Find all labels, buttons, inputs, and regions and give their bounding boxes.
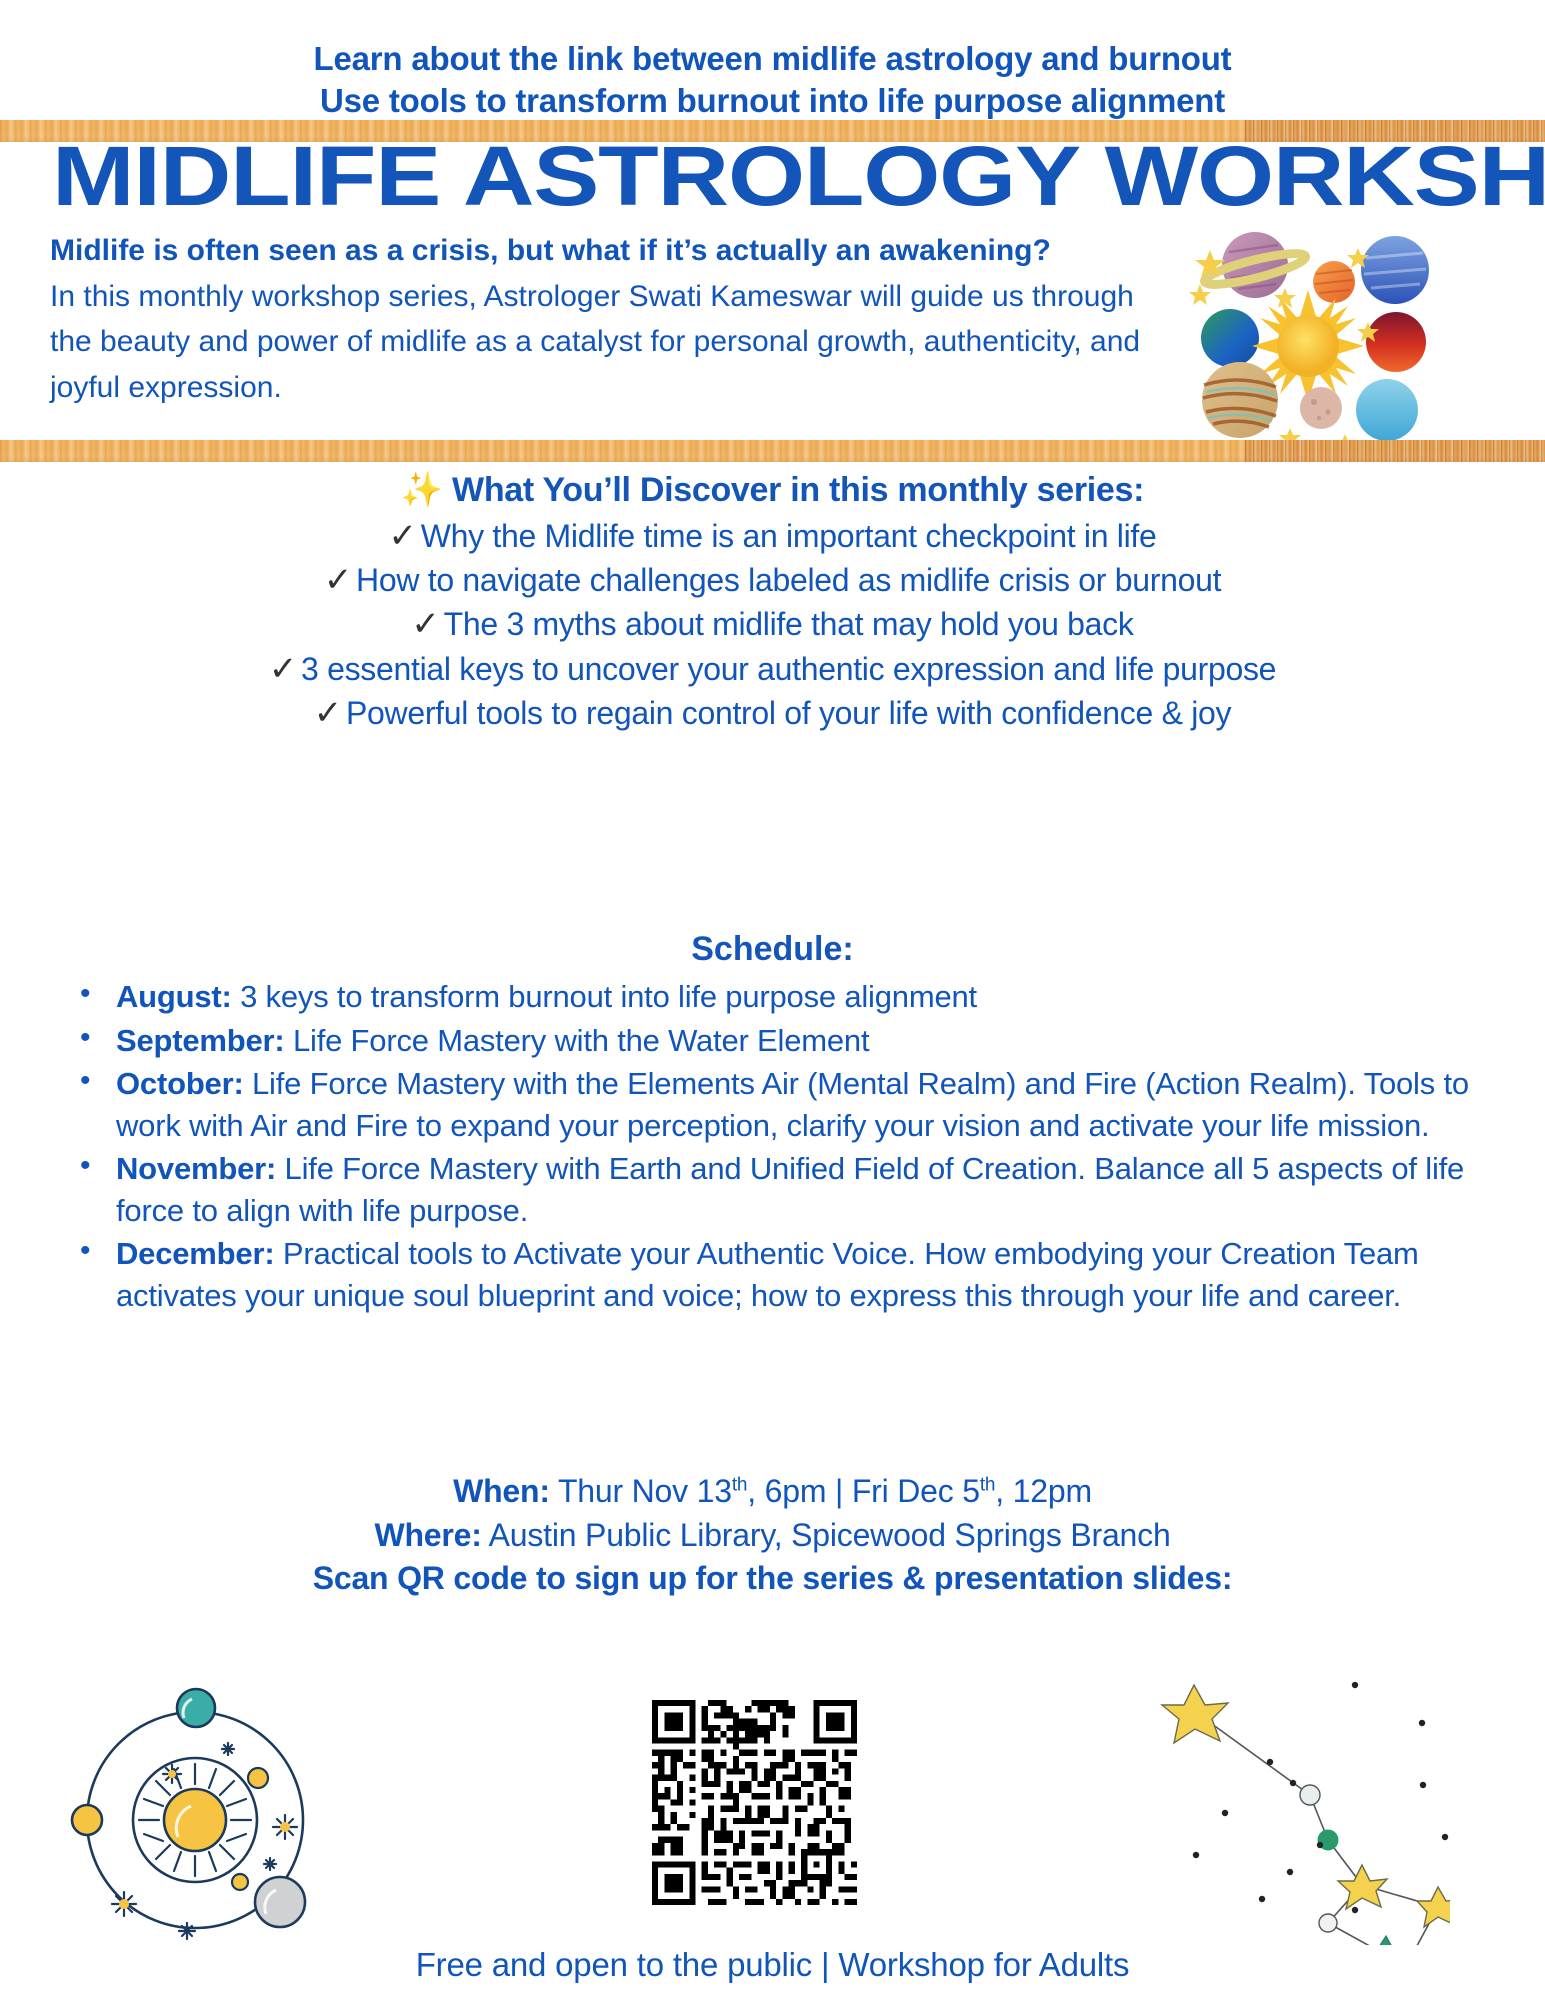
when-value-b: , 6pm | Fri Dec 5	[747, 1473, 980, 1509]
when-row: When: Thur Nov 13th, 6pm | Fri Dec 5th, …	[0, 1470, 1545, 1514]
when-value-a: Thur Nov 13	[550, 1473, 732, 1509]
schedule-text: 3 keys to transform burnout into life pu…	[232, 979, 977, 1014]
when-label: When:	[453, 1473, 550, 1509]
discover-title: What You’ll Discover in this monthly ser…	[452, 471, 1144, 509]
schedule-month: October:	[116, 1066, 244, 1101]
event-details: When: Thur Nov 13th, 6pm | Fri Dec 5th, …	[0, 1470, 1545, 1601]
where-label: Where:	[374, 1517, 481, 1553]
schedule-text: Life Force Mastery with Earth and Unifie…	[116, 1151, 1464, 1228]
schedule-month: August:	[116, 979, 232, 1014]
tagline-line-1: Learn about the link between midlife ast…	[0, 38, 1545, 80]
schedule-month: November:	[116, 1151, 276, 1186]
schedule-item: November: Life Force Mastery with Earth …	[68, 1148, 1488, 1231]
schedule-item: September: Life Force Mastery with the W…	[68, 1020, 1488, 1062]
schedule-text: Life Force Mastery with the Elements Air…	[116, 1066, 1469, 1143]
discover-item-label: The 3 myths about midlife that may hold …	[444, 606, 1134, 642]
discover-item-label: Powerful tools to regain control of your…	[346, 695, 1231, 731]
flyer-page: Learn about the link between midlife ast…	[0, 0, 1545, 2000]
check-icon: ✓	[411, 605, 439, 643]
constellation-illustration	[1150, 1655, 1450, 1945]
when-value-c: , 12pm	[995, 1473, 1092, 1509]
intro-lead: Midlife is often seen as a crisis, but w…	[50, 228, 1180, 274]
schedule-text: Life Force Mastery with the Water Elemen…	[285, 1023, 870, 1058]
where-value: Austin Public Library, Spicewood Springs…	[482, 1517, 1171, 1553]
discover-item-label: 3 essential keys to uncover your authent…	[301, 651, 1276, 687]
discover-item-label: Why the Midlife time is an important che…	[421, 518, 1157, 554]
page-title: MIDLIFE ASTROLOGY WORKSHOP SERIES	[52, 134, 1545, 218]
tagline: Learn about the link between midlife ast…	[0, 38, 1545, 122]
qr-code[interactable]	[652, 1700, 857, 1905]
discover-item: ✓How to navigate challenges labeled as m…	[0, 558, 1545, 602]
schedule-list: August: 3 keys to transform burnout into…	[68, 976, 1488, 1318]
sparkles-icon: ✨	[401, 471, 443, 509]
schedule-month: December:	[116, 1236, 274, 1271]
discover-item: ✓Why the Midlife time is an important ch…	[0, 514, 1545, 558]
footer-note: Free and open to the public | Workshop f…	[0, 1946, 1545, 1984]
check-icon: ✓	[314, 694, 342, 732]
discover-item: ✓Powerful tools to regain control of you…	[0, 691, 1545, 735]
solar-system-icon	[60, 1660, 330, 1940]
schedule-item: December: Practical tools to Activate yo…	[68, 1233, 1488, 1316]
intro-block: Midlife is often seen as a crisis, but w…	[50, 228, 1180, 410]
schedule-text: Practical tools to Activate your Authent…	[116, 1236, 1419, 1313]
schedule-month: September:	[116, 1023, 285, 1058]
schedule-item: October: Life Force Mastery with the Ele…	[68, 1063, 1488, 1146]
tagline-line-2: Use tools to transform burnout into life…	[0, 80, 1545, 122]
check-icon: ✓	[269, 650, 297, 688]
discover-item-label: How to navigate challenges labeled as mi…	[356, 562, 1221, 598]
schedule-heading: Schedule:	[0, 930, 1545, 969]
when-ordinal-b: th	[980, 1474, 995, 1495]
schedule-item: August: 3 keys to transform burnout into…	[68, 976, 1488, 1018]
discover-title-row: ✨ What You’ll Discover in this monthly s…	[0, 470, 1545, 510]
check-icon: ✓	[324, 561, 352, 599]
check-icon: ✓	[388, 517, 416, 555]
where-row: Where: Austin Public Library, Spicewood …	[0, 1514, 1545, 1558]
planets-illustration	[1182, 222, 1432, 442]
discover-item: ✓The 3 myths about midlife that may hold…	[0, 602, 1545, 646]
discover-section: ✨ What You’ll Discover in this monthly s…	[0, 470, 1545, 735]
gold-divider-bottom	[0, 440, 1545, 462]
when-ordinal-a: th	[732, 1474, 747, 1495]
qr-call-to-action: Scan QR code to sign up for the series &…	[0, 1557, 1545, 1601]
intro-body: In this monthly workshop series, Astrolo…	[50, 274, 1180, 411]
discover-item: ✓3 essential keys to uncover your authen…	[0, 647, 1545, 691]
